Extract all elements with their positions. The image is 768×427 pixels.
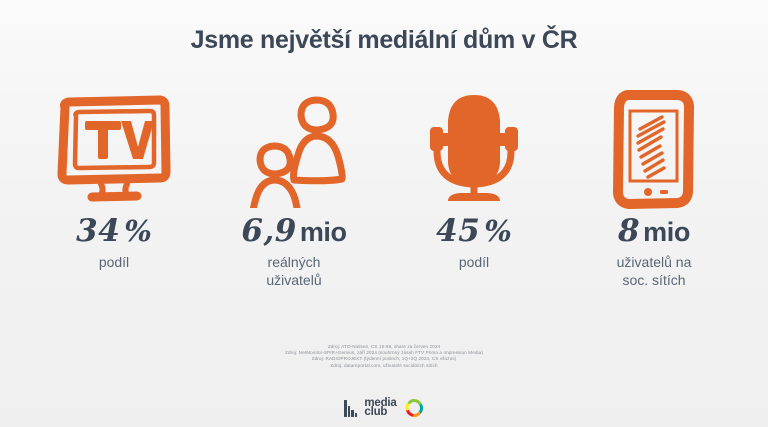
stat-unit: % — [484, 214, 512, 248]
media-club-wordmark: media club — [364, 399, 396, 418]
stat-unit: mio — [300, 217, 347, 247]
stat-number: 6,9 — [241, 213, 296, 249]
stat-unit: mio — [643, 217, 690, 247]
media-club-bars-icon — [344, 400, 357, 417]
stat-value-tv: 34% — [76, 216, 152, 247]
tv-icon-text — [85, 121, 154, 159]
stat-number: 8 — [618, 213, 640, 249]
brand-logo: media club — [0, 398, 768, 418]
colorful-ring-icon — [404, 398, 424, 418]
stat-value-radio: 45% — [436, 216, 512, 247]
stat-item-tv: 34% podíl — [24, 88, 204, 272]
page-title: Jsme největší mediální dům v ČR — [0, 26, 768, 55]
stat-number: 34 — [76, 213, 120, 249]
stat-value-social: 8mio — [618, 216, 690, 247]
stat-unit: % — [124, 214, 152, 248]
stat-caption-line1: uživatelů na — [617, 254, 692, 272]
tv-icon-container — [55, 88, 173, 210]
logo-line-club: club — [364, 408, 396, 418]
source-notes: Zdroj: ATO-Nielsen, CS 15-69, share za č… — [0, 344, 768, 369]
stat-item-radio: 45% podíl — [384, 88, 564, 272]
stat-caption: podíl — [459, 254, 489, 272]
smartphone-icon — [604, 89, 704, 209]
stats-row: 34% podíl 6,9mio reálných — [0, 88, 768, 289]
people-icon-container — [238, 88, 350, 210]
smartphone-icon-container — [604, 88, 704, 210]
tv-icon — [55, 93, 173, 205]
stat-caption: podíl — [99, 254, 129, 272]
stat-caption: reálných uživatelů — [266, 254, 321, 289]
people-icon — [238, 90, 350, 208]
infographic-slide: Jsme největší mediální dům v ČR — [0, 0, 768, 427]
stat-caption-line2: soc. sítích — [617, 272, 692, 290]
stat-caption: uživatelů na soc. sítích — [617, 254, 692, 289]
source-line: Zdroj: datareportal.com, uživatelé sociá… — [0, 363, 768, 369]
stat-item-users: 6,9mio reálných uživatelů — [204, 88, 384, 289]
stat-value-users: 6,9mio — [241, 216, 346, 247]
microphone-icon-container — [418, 88, 530, 210]
stat-caption-line2: uživatelů — [266, 272, 321, 290]
stat-caption-line1: reálných — [266, 254, 321, 272]
microphone-icon — [418, 89, 530, 209]
stat-item-social: 8mio uživatelů na soc. sítích — [564, 88, 744, 289]
stat-number: 45 — [436, 213, 480, 249]
